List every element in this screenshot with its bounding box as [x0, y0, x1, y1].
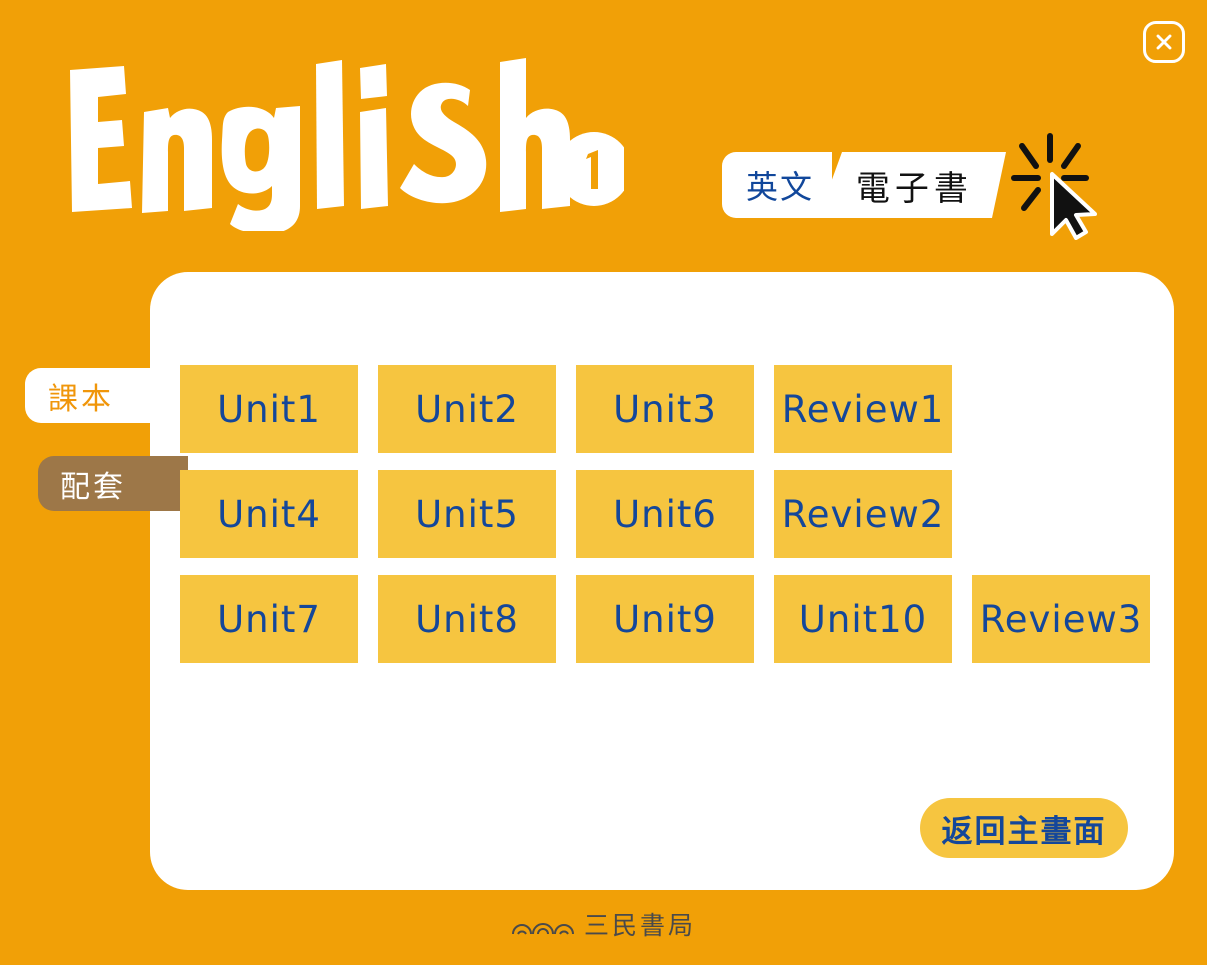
close-button[interactable] — [1143, 21, 1185, 63]
publisher-name: 三民書局 — [584, 906, 696, 942]
review-button[interactable]: Review1 — [774, 365, 952, 453]
click-cursor-icon — [1000, 130, 1110, 240]
unit-button[interactable]: Unit3 — [576, 365, 754, 453]
unit-button[interactable]: Unit2 — [378, 365, 556, 453]
app-logo — [64, 56, 624, 231]
review-button[interactable]: Review3 — [972, 575, 1150, 663]
unit-button[interactable]: Unit5 — [378, 470, 556, 558]
english-logo-icon — [64, 56, 624, 231]
unit-button[interactable]: Unit7 — [180, 575, 358, 663]
unit-button[interactable]: Unit4 — [180, 470, 358, 558]
unit-button[interactable]: Unit6 — [576, 470, 754, 558]
badge-type-label: 電子書 — [856, 161, 973, 210]
unit-grid: Unit1 Unit2 Unit3 Review1 Unit4 Unit5 Un… — [180, 365, 1150, 663]
sidebar-item-textbook[interactable]: 課本 — [25, 368, 195, 423]
unit-button[interactable]: Unit9 — [576, 575, 754, 663]
unit-button[interactable]: Unit8 — [378, 575, 556, 663]
close-icon — [1146, 24, 1182, 60]
badge-type: 電子書 — [843, 152, 1006, 218]
ebook-badge: 英文 電子書 — [722, 152, 999, 218]
publisher-footer: 三民書局 — [0, 906, 1207, 942]
sidebar-item-label: 課本 — [48, 374, 114, 418]
return-home-button[interactable]: 返回主畫面 — [920, 798, 1128, 858]
sidebar-item-label: 配套 — [60, 462, 126, 506]
wave-arch-logo-icon — [511, 912, 575, 936]
unit-button[interactable]: Unit1 — [180, 365, 358, 453]
grid-empty-cell — [972, 365, 1150, 453]
grid-empty-cell — [972, 470, 1150, 558]
badge-subject: 英文 — [722, 152, 832, 218]
sidebar-item-supplement[interactable]: 配套 — [38, 456, 188, 511]
unit-button[interactable]: Unit10 — [774, 575, 952, 663]
review-button[interactable]: Review2 — [774, 470, 952, 558]
